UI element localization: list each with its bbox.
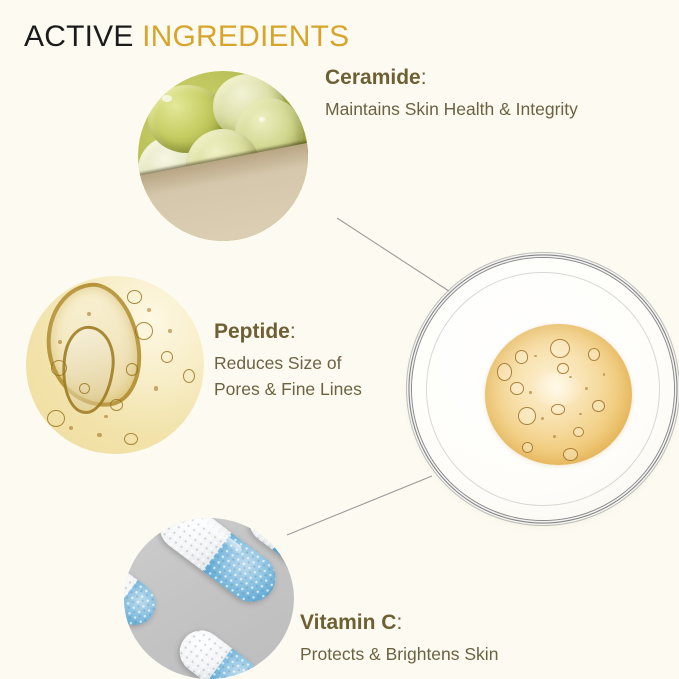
vitamin-c-heading: Vitamin C: — [300, 611, 498, 636]
serum-bubble — [557, 363, 569, 374]
serum-bubble — [510, 382, 524, 395]
gel-bubble — [127, 290, 141, 304]
serum-speck — [579, 413, 582, 416]
serum-bubble — [518, 407, 536, 425]
vitamin-c-name: Vitamin C — [300, 611, 396, 634]
serum-speck — [529, 391, 531, 393]
petri-dish-with-serum-drop — [412, 258, 674, 520]
serum-speck — [585, 387, 588, 390]
gel-bubble — [51, 360, 67, 376]
page-title: ACTIVE INGREDIENTS — [24, 20, 349, 54]
peptide-benefit-line-2: Pores & Fine Lines — [214, 378, 362, 401]
gel-bubble — [126, 363, 139, 376]
peptide-name: Peptide — [214, 320, 290, 343]
serum-bubble — [573, 427, 584, 437]
serum-speck — [603, 373, 606, 376]
gel-bubble — [79, 383, 90, 394]
connector-vitamin-c-to-dish — [287, 476, 432, 535]
gel-speck — [147, 308, 151, 312]
serum-bubble — [550, 339, 570, 358]
serum-bubble — [497, 363, 512, 381]
gel-speck — [168, 329, 172, 333]
ceramide-colon: : — [421, 66, 427, 89]
vitamin-c-benefit-line-1: Protects & Brightens Skin — [300, 643, 498, 666]
serum-speck — [541, 417, 544, 420]
page-title-active: ACTIVE — [24, 20, 142, 53]
serum-bubble — [522, 442, 533, 452]
vitamin-c-swatch-circle — [124, 518, 294, 679]
ceramide-swatch-circle — [138, 71, 308, 241]
serum-bubble — [563, 448, 578, 461]
label-vitamin-c: Vitamin C: Protects & Brightens Skin — [300, 611, 498, 666]
vitamin-c-colon: : — [396, 611, 402, 634]
page-title-ingredients: INGREDIENTS — [142, 20, 349, 53]
gel-speck — [69, 426, 73, 430]
gel-bubble — [135, 322, 153, 340]
serum-drop-core — [532, 372, 582, 406]
ceramide-heading: Ceramide: — [325, 66, 578, 91]
label-ceramide: Ceramide: Maintains Skin Health & Integr… — [325, 66, 578, 121]
serum-bubble — [588, 348, 600, 361]
peptide-colon: : — [290, 320, 296, 343]
peptide-swatch-circle — [26, 276, 204, 454]
serum-bubble — [551, 404, 565, 414]
ceramide-name: Ceramide — [325, 66, 421, 89]
serum-bubble — [515, 350, 529, 363]
serum-bubble — [592, 400, 604, 412]
serum-drop — [485, 324, 632, 465]
serum-speck — [553, 435, 556, 438]
gel-speck — [97, 433, 102, 438]
peptide-benefit-line-1: Reduces Size of — [214, 352, 362, 375]
ceramide-benefit-line-1: Maintains Skin Health & Integrity — [325, 98, 578, 121]
label-peptide: Peptide: Reduces Size of Pores & Fine Li… — [214, 320, 362, 400]
gel-bubble — [161, 351, 173, 363]
peptide-heading: Peptide: — [214, 320, 362, 345]
infographic-canvas: ACTIVE INGREDIENTS Ceramide: — [0, 0, 679, 679]
serum-speck — [534, 355, 537, 358]
gel-speck — [58, 340, 62, 344]
gel-bubble — [47, 410, 65, 427]
